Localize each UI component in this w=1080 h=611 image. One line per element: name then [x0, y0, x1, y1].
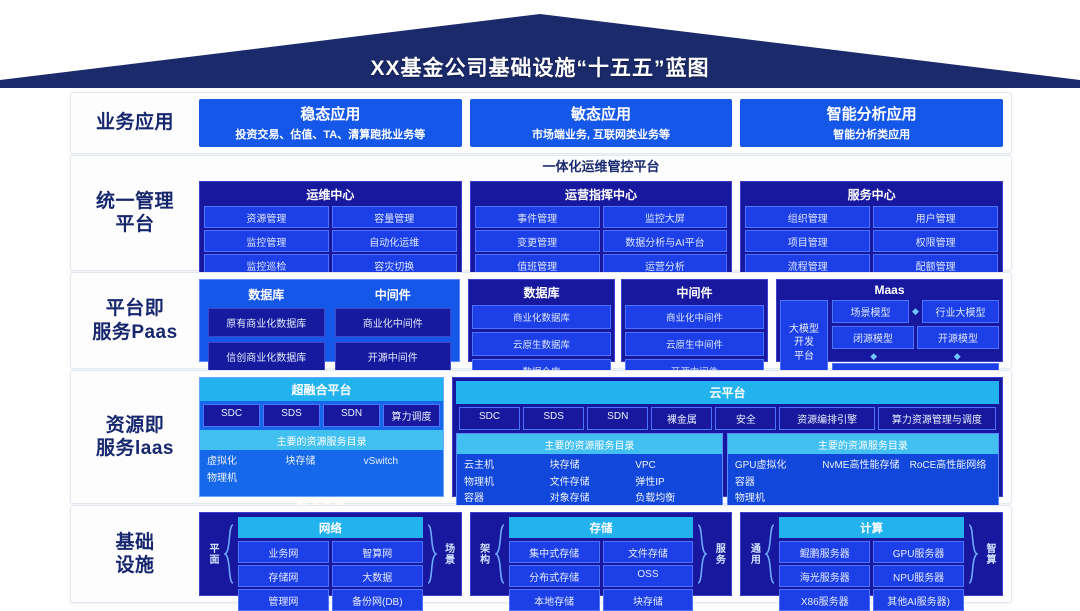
infra-item-row: 集中式存储 文件存储 — [509, 541, 694, 563]
catalog-title: 主要的资源服务目录 — [728, 434, 998, 454]
infra-left-label: 架构 — [476, 517, 491, 591]
paas-group-title: 数据库 — [472, 283, 611, 305]
paas-item[interactable]: 云原生数据库 — [472, 332, 611, 356]
service-item: vSwitch — [364, 455, 436, 470]
maas-item[interactable]: 闭源模型 — [832, 326, 914, 349]
infra-item[interactable]: 存储网 — [238, 565, 329, 587]
brace-right-icon — [426, 517, 438, 591]
center-title: 服务中心 — [743, 184, 1000, 206]
maas-item[interactable]: 场景模型 — [832, 300, 909, 323]
row-label-paas: 平台即 服务Paas — [71, 273, 199, 368]
row-label-line2: 设施 — [115, 554, 154, 577]
service-item: 块存储 — [285, 455, 357, 470]
row-business-application: 业务应用 稳态应用 投资交易、估值、TA、清算跑批业务等 敏态应用 市场端业务,… — [70, 92, 1012, 154]
center-item-row: 事件管理 监控大屏 — [475, 206, 728, 228]
capability-sds[interactable]: SDS — [263, 404, 320, 427]
center-title: 运维中心 — [202, 184, 459, 206]
row-label-line1: 资源即 — [96, 414, 174, 437]
infra-item-row: 海光服务器 NPU服务器 — [779, 565, 964, 587]
brace-left-icon — [764, 517, 776, 591]
app-card-subtitle: 投资交易、估值、TA、清算跑批业务等 — [235, 128, 425, 142]
service-item: 块存储 — [550, 459, 630, 474]
paas-group-title: 数据库 — [208, 285, 325, 308]
infra-item[interactable]: 智算网 — [332, 541, 423, 563]
paas-item[interactable]: 信创商业化数据库 — [208, 342, 325, 371]
row-body-management: 一体化运维管控平台 运维中心 资源管理 容量管理 监控管理 自动化运维 — [199, 156, 1011, 270]
infra-item[interactable]: 业务网 — [238, 541, 329, 563]
brace-left-icon — [494, 517, 506, 591]
infra-item[interactable]: 鲲鹏服务器 — [779, 541, 870, 563]
paas-stable-block[interactable]: 数据库 原有商业化数据库 信创商业化数据库 中间件 商业化中间件 开源中间件 — [199, 279, 460, 362]
row-iaas: 资源即 服务laas 超融合平台 SDC SDS SDN 算力调度 主要的资源服… — [70, 370, 1012, 504]
paas-group-database: 数据库 原有商业化数据库 信创商业化数据库 — [208, 285, 325, 356]
maas-arrow-row: ◆ ◆ — [832, 352, 999, 360]
app-card-stable[interactable]: 稳态应用 投资交易、估值、TA、清算跑批业务等 — [199, 99, 462, 147]
center-item[interactable]: 监控大屏 — [603, 206, 728, 228]
paas-group-middleware: 中间件 商业化中间件 开源中间件 — [335, 285, 452, 356]
service-item: 虚拟化 — [207, 455, 279, 470]
page-title: XX基金公司基础设施“十五五”蓝图 — [0, 52, 1080, 82]
infra-right-label: 场景 — [441, 517, 456, 591]
infra-item-row: 存储网 大数据 — [238, 565, 423, 587]
service-column: 云主机 物理机 容器 — [464, 459, 544, 507]
capability-bare-metal[interactable]: 裸金属 — [651, 407, 712, 430]
brace-right-icon — [967, 517, 979, 591]
infra-item[interactable]: 分布式存储 — [509, 565, 600, 587]
catalog-title: 主要的资源服务目录 — [200, 430, 443, 450]
row-body-paas: 数据库 原有商业化数据库 信创商业化数据库 中间件 商业化中间件 开源中间件 数… — [199, 273, 1011, 368]
center-item[interactable]: 组织管理 — [745, 206, 870, 228]
center-item[interactable]: 用户管理 — [873, 206, 998, 228]
center-service[interactable]: 服务中心 组织管理 用户管理 项目管理 权限管理 流程管理 — [740, 181, 1003, 281]
infra-title: 网络 — [238, 517, 423, 538]
infra-item[interactable]: NPU服务器 — [873, 565, 964, 587]
capability-security[interactable]: 安全 — [715, 407, 776, 430]
center-item-row: 变更管理 数据分析与AI平台 — [475, 230, 728, 252]
infra-right-label: 智算 — [982, 517, 997, 591]
paas-item[interactable]: 商业化中间件 — [625, 305, 764, 329]
service-column: 块存储 — [285, 455, 357, 486]
center-item-row: 资源管理 容量管理 — [204, 206, 457, 228]
cloud-platform-title: 云平台 — [456, 381, 999, 404]
infra-item-row: 分布式存储 OSS — [509, 565, 694, 587]
cloud-capabilities: SDC SDS SDN 裸金属 安全 资源编排引擎 算力资源管理与调度 — [456, 404, 999, 433]
row-label-line2: 平台 — [96, 213, 174, 236]
row-body-iaas: 超融合平台 SDC SDS SDN 算力调度 主要的资源服务目录 虚拟化 物理机… — [199, 371, 1011, 503]
maas-block[interactable]: Maas 大模型 开发 平台 场景模型 ◆ 行业大模型 — [776, 279, 1003, 362]
paas-agile-middleware[interactable]: 中间件 商业化中间件 云原生中间件 开源中间件 — [621, 279, 768, 362]
service-item: VPC — [635, 459, 715, 474]
hyperconverged-capabilities: SDC SDS SDN 算力调度 — [200, 401, 443, 430]
center-item[interactable]: 事件管理 — [475, 206, 600, 228]
center-item-row: 组织管理 用户管理 — [745, 206, 998, 228]
maas-row-source: 闭源模型 开源模型 — [832, 326, 999, 349]
center-ops[interactable]: 运维中心 资源管理 容量管理 监控管理 自动化运维 监控巡检 — [199, 181, 462, 281]
infra-left-label: 通用 — [746, 517, 761, 591]
infra-title: 存储 — [509, 517, 694, 538]
paas-item[interactable]: 商业化中间件 — [335, 308, 452, 337]
infra-item[interactable]: GPU服务器 — [873, 541, 964, 563]
service-column: RoCE高性能网络 — [910, 459, 991, 507]
cloud-catalog-intelligent: 主要的资源服务目录 GPU虚拟化 容器 物理机 NvME高性能存储 — [727, 433, 999, 513]
row-label-management: 统一管理 平台 — [71, 156, 199, 270]
service-item: 弹性IP — [635, 476, 715, 491]
capability-sdn[interactable]: SDN — [323, 404, 380, 427]
row-infrastructure: 基础 设施 平面 网络 业务网 智算网 存储网 — [70, 505, 1012, 603]
center-item[interactable]: 容量管理 — [332, 206, 457, 228]
service-item: NvME高性能存储 — [822, 459, 903, 474]
app-card-agile[interactable]: 敏态应用 市场端业务, 互联网类业务等 — [470, 99, 733, 147]
roof-banner: XX基金公司基础设施“十五五”蓝图 — [0, 14, 1080, 88]
catalog-title: 主要的资源服务目录 — [457, 434, 722, 454]
cloud-services-general: 云主机 物理机 容器 块存储 文件存储 对象存储 VPC — [457, 454, 722, 512]
blueprint-page: XX基金公司基础设施“十五五”蓝图 业务应用 稳态应用 投资交易、估值、TA、清… — [0, 0, 1080, 608]
app-card-title: 智能分析应用 — [827, 104, 917, 125]
paas-agile-block: 数据库 商业化数据库 云原生数据库 数据仓库 中间件 商业化中间件 云原生中间件… — [468, 279, 768, 362]
infra-card-storage[interactable]: 架构 存储 集中式存储 文件存储 分布式存储 OSS 本地存储 — [470, 512, 733, 596]
app-card-title: 敏态应用 — [571, 104, 631, 125]
infra-item[interactable]: 文件存储 — [603, 541, 694, 563]
infra-card-network[interactable]: 平面 网络 业务网 智算网 存储网 大数据 管理网 — [199, 512, 462, 596]
row-body-business: 稳态应用 投资交易、估值、TA、清算跑批业务等 敏态应用 市场端业务, 互联网类… — [199, 93, 1011, 153]
row-unified-management: 统一管理 平台 一体化运维管控平台 运维中心 资源管理 容量管理 — [70, 155, 1012, 271]
infra-item-row: 鲲鹏服务器 GPU服务器 — [779, 541, 964, 563]
row-label-line2: 服务Paas — [92, 321, 177, 344]
maas-dev-line2: 开发 — [789, 336, 819, 350]
center-item[interactable]: 自动化运维 — [332, 230, 457, 252]
app-card-subtitle: 市场端业务, 互联网类业务等 — [532, 128, 670, 142]
maas-title: Maas — [780, 283, 999, 300]
service-column: NvME高性能存储 — [822, 459, 903, 507]
row-label-business: 业务应用 — [71, 93, 199, 153]
infra-item[interactable]: 集中式存储 — [509, 541, 600, 563]
maas-item[interactable]: 开源模型 — [917, 326, 999, 349]
infra-right-label: 服务 — [711, 517, 726, 591]
paas-item[interactable]: 云原生中间件 — [625, 332, 764, 356]
capability-sdn[interactable]: SDN — [587, 407, 648, 430]
center-item-row: 监控管理 自动化运维 — [204, 230, 457, 252]
row-label-line2: 服务laas — [96, 437, 174, 460]
service-item: 云主机 — [464, 459, 544, 474]
brace-left-icon — [223, 517, 235, 591]
service-column: GPU虚拟化 容器 物理机 — [735, 459, 816, 507]
infra-item[interactable]: 海光服务器 — [779, 565, 870, 587]
row-label-line1: 平台即 — [92, 297, 177, 320]
app-card-title: 稳态应用 — [300, 104, 360, 125]
paas-item[interactable]: 开源中间件 — [335, 342, 452, 371]
capability-sds[interactable]: SDS — [523, 407, 584, 430]
service-item: 文件存储 — [550, 476, 630, 491]
row-label-iaas: 资源即 服务laas — [71, 371, 199, 503]
arrow-up-icon: ◆ — [870, 352, 877, 361]
cloud-platform[interactable]: 云平台 SDC SDS SDN 裸金属 安全 资源编排引擎 算力资源管理与调度 … — [452, 377, 1003, 497]
capability-compute-scheduling[interactable]: 算力调度 — [383, 404, 440, 427]
capability-orchestration-engine[interactable]: 资源编排引擎 — [779, 407, 874, 430]
maas-dev-line3: 平台 — [789, 350, 819, 364]
hyperconverged-title: 超融合平台 — [200, 378, 443, 401]
infra-title: 计算 — [779, 517, 964, 538]
center-operations-command[interactable]: 运营指挥中心 事件管理 监控大屏 变更管理 数据分析与AI平台 — [470, 181, 733, 281]
infra-item-row: 业务网 智算网 — [238, 541, 423, 563]
management-centers: 运维中心 资源管理 容量管理 监控管理 自动化运维 监控巡检 — [199, 162, 1003, 264]
maas-dev-line1: 大模型 — [789, 323, 819, 337]
row-label-infrastructure: 基础 设施 — [71, 506, 199, 602]
service-item: 容器 — [735, 476, 816, 491]
center-title: 运营指挥中心 — [473, 184, 730, 206]
infra-item[interactable]: 大数据 — [332, 565, 423, 587]
brace-right-icon — [696, 517, 708, 591]
cloud-services-intelligent: GPU虚拟化 容器 物理机 NvME高性能存储 RoCE高性能网络 — [728, 454, 998, 512]
capability-sdc[interactable]: SDC — [203, 404, 260, 427]
cloud-catalog-split: 主要的资源服务目录 云主机 物理机 容器 块存储 文件存储 对象存储 — [456, 433, 999, 513]
app-card-intelligent-analytics[interactable]: 智能分析应用 智能分析类应用 — [740, 99, 1003, 147]
row-label-line1: 基础 — [115, 531, 154, 554]
service-item: GPU虚拟化 — [735, 459, 816, 474]
row-body-infrastructure: 平面 网络 业务网 智算网 存储网 大数据 管理网 — [199, 506, 1011, 602]
paas-group-title: 中间件 — [335, 285, 452, 308]
capability-compute-resource-mgmt[interactable]: 算力资源管理与调度 — [878, 407, 996, 430]
service-item: 物理机 — [207, 472, 279, 487]
service-column: VPC 弹性IP 负载均衡 — [635, 459, 715, 507]
center-item[interactable]: 变更管理 — [475, 230, 600, 252]
app-card-subtitle: 智能分析类应用 — [833, 128, 910, 142]
maas-row-scenario: 场景模型 ◆ 行业大模型 — [832, 300, 999, 323]
service-column: 虚拟化 物理机 — [207, 455, 279, 486]
service-item: 物理机 — [464, 476, 544, 491]
platform-title: 一体化运维管控平台 — [199, 156, 1003, 174]
row-label-line1: 统一管理 — [96, 190, 174, 213]
infra-card-compute[interactable]: 通用 计算 鲲鹏服务器 GPU服务器 海光服务器 NPU服务器 X86服务 — [740, 512, 1003, 596]
center-item-row: 项目管理 权限管理 — [745, 230, 998, 252]
cloud-catalog-general: 主要的资源服务目录 云主机 物理机 容器 块存储 文件存储 对象存储 — [456, 433, 723, 513]
center-item[interactable]: 项目管理 — [745, 230, 870, 252]
hyperconverged-platform[interactable]: 超融合平台 SDC SDS SDN 算力调度 主要的资源服务目录 虚拟化 物理机… — [199, 377, 444, 497]
arrow-left-right-icon: ◆ — [912, 307, 919, 316]
infra-item[interactable]: OSS — [603, 565, 694, 587]
capability-sdc[interactable]: SDC — [459, 407, 520, 430]
arrow-up-icon: ◆ — [954, 352, 961, 361]
center-item[interactable]: 监控管理 — [204, 230, 329, 252]
infra-left-label: 平面 — [205, 517, 220, 591]
center-item[interactable]: 资源管理 — [204, 206, 329, 228]
service-item: RoCE高性能网络 — [910, 459, 991, 474]
service-column: vSwitch — [364, 455, 436, 486]
paas-group-title: 中间件 — [625, 283, 764, 305]
paas-agile-database[interactable]: 数据库 商业化数据库 云原生数据库 数据仓库 — [468, 279, 615, 362]
maas-item[interactable]: 行业大模型 — [922, 300, 999, 323]
hyperconverged-services: 虚拟化 物理机 块存储 vSwitch — [200, 450, 443, 491]
paas-item[interactable]: 商业化数据库 — [472, 305, 611, 329]
row-paas: 平台即 服务Paas 数据库 原有商业化数据库 信创商业化数据库 中间件 商业化… — [70, 272, 1012, 369]
center-item[interactable]: 权限管理 — [873, 230, 998, 252]
center-item[interactable]: 数据分析与AI平台 — [603, 230, 728, 252]
service-column: 块存储 文件存储 对象存储 — [550, 459, 630, 507]
paas-item[interactable]: 原有商业化数据库 — [208, 308, 325, 337]
